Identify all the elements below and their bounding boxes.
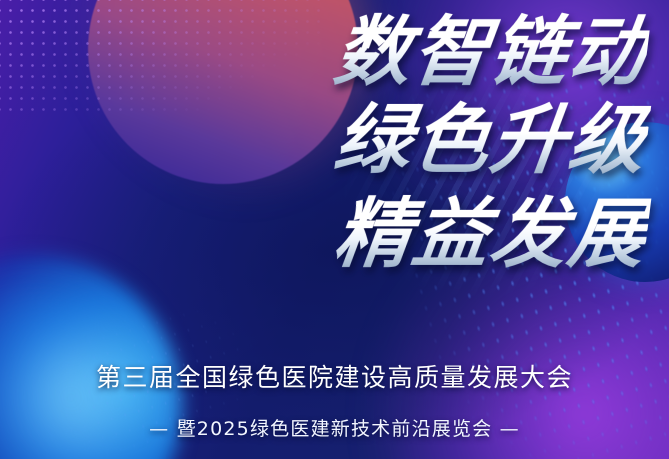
background-gradient: [0, 0, 669, 459]
conference-title: 第三届全国绿色医院建设高质量发展大会: [0, 358, 669, 394]
conference-banner: 数智链动 绿色升级 精益发展 第三届全国绿色医院建设高质量发展大会 — 暨202…: [0, 0, 669, 459]
subtitle-block: 第三届全国绿色医院建设高质量发展大会 — 暨2025绿色医建新技术前沿展览会 —: [0, 358, 669, 441]
red-sphere-glow: [74, 0, 374, 200]
exhibition-subtitle: — 暨2025绿色医建新技术前沿展览会 —: [0, 414, 669, 441]
headline-block: 数智链动 绿色升级 精益发展: [0, 6, 647, 280]
red-gradient-sphere: [88, 0, 358, 184]
blue-planet-sphere: [565, 122, 669, 282]
background-vignette: [0, 0, 669, 459]
headline-line-1: 数智链动: [0, 6, 653, 98]
halftone-dot-grid: [0, 0, 324, 114]
headline-line-2: 绿色升级: [0, 94, 653, 186]
cyan-glow-sphere: [0, 255, 182, 459]
diagonal-dash-streaks: [330, 60, 630, 310]
lower-left-dot-field: [23, 270, 298, 459]
cyan-glow-sphere-core: [0, 291, 136, 459]
headline-line-3: 精益发展: [0, 188, 653, 280]
purple-glow-top-right: [359, 0, 669, 270]
magenta-glow-bottom-right: [369, 199, 669, 459]
slanted-oval-dot-field: [356, 7, 669, 459]
